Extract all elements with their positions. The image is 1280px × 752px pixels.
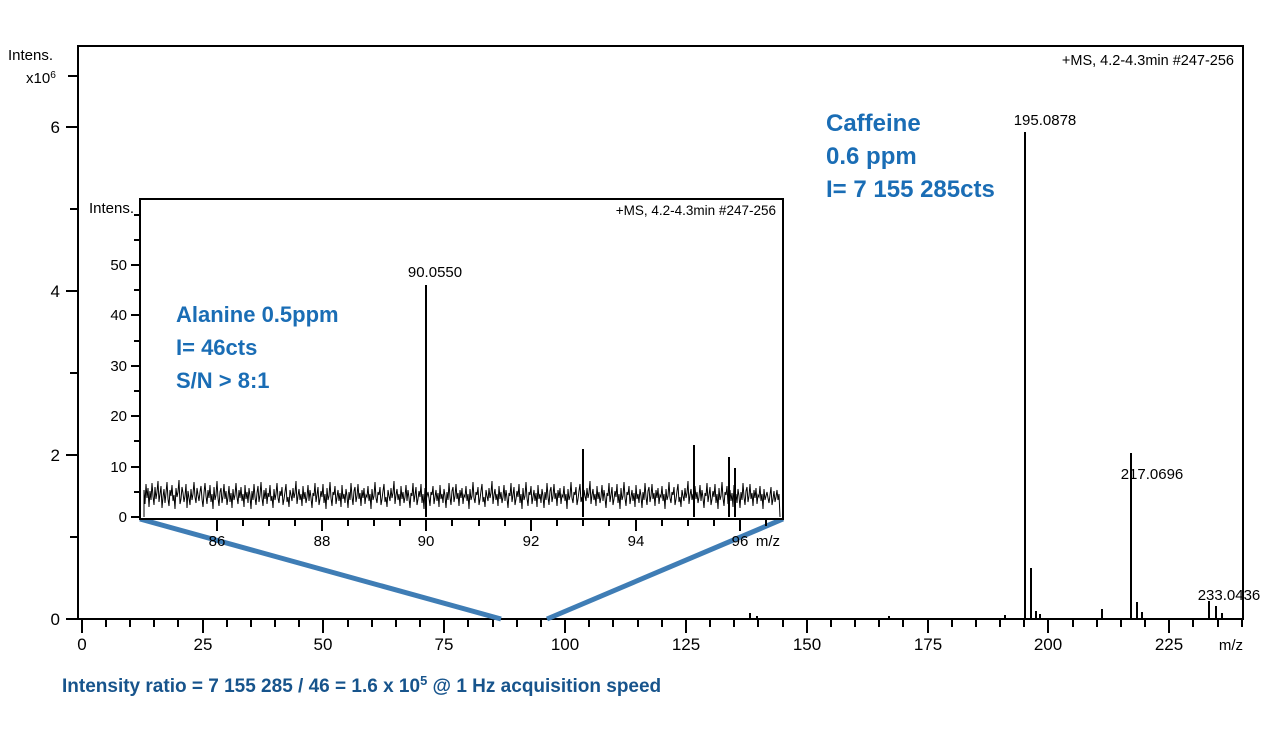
main-x-tick-150: 150 — [793, 635, 821, 654]
inset-y-tick-10: 10 — [110, 459, 127, 476]
inset-x-tick-88: 88 — [314, 533, 331, 550]
main-x-tick-25: 25 — [194, 635, 213, 654]
main-peak-label-233: 233.0436 — [1198, 587, 1261, 604]
caption-exponent: 5 — [420, 673, 427, 688]
main-x-tick-50: 50 — [314, 635, 333, 654]
alanine-annotation-line1: Alanine 0.5ppm — [176, 302, 339, 327]
main-x-axis-title: m/z — [1219, 637, 1243, 654]
main-x-tick-0: 0 — [77, 635, 86, 654]
main-x-tick-175: 175 — [914, 635, 942, 654]
main-y-axis-title-line1: Intens. — [8, 47, 53, 64]
inset-x-tick-92: 92 — [523, 533, 540, 550]
caption-part1: Intensity ratio = 7 155 285 / 46 = 1.6 x… — [62, 676, 420, 697]
main-x-tick-100: 100 — [551, 635, 579, 654]
inset-y-axis-title: Intens. — [89, 200, 134, 217]
main-x-tick-225: 225 — [1155, 635, 1183, 654]
main-y-axis-title-base: x10 — [26, 70, 50, 87]
main-x-axis: 0 25 50 75 100 125 150 175 200 225 m/z — [77, 619, 1243, 654]
caffeine-annotation-line3: I= 7 155 285cts — [826, 176, 995, 203]
main-y-tick-2: 2 — [51, 446, 60, 465]
alanine-annotation-line2: I= 46cts — [176, 335, 257, 360]
inset-x-tick-90: 90 — [418, 533, 435, 550]
main-y-axis-title: Intens. x106 — [8, 47, 56, 87]
inset-y-tick-20: 20 — [110, 408, 127, 425]
mass-spectrum-figure: 0 2 4 6 Intens. x106 — [0, 0, 1280, 752]
figure-root: 0 2 4 6 Intens. x106 — [0, 0, 1280, 752]
inset-x-tick-94: 94 — [628, 533, 645, 550]
main-peak-label-217: 217.0696 — [1121, 466, 1184, 483]
main-y-axis: 0 2 4 6 — [51, 76, 78, 629]
figure-caption: Intensity ratio = 7 155 285 / 46 = 1.6 x… — [62, 673, 661, 698]
inset-plot-header: +MS, 4.2-4.3min #247-256 — [616, 203, 776, 218]
main-y-tick-0: 0 — [51, 610, 60, 629]
inset-x-axis-title: m/z — [756, 533, 780, 550]
inset-x-tick-96: 96 — [732, 533, 749, 550]
inset-peak-label-90: 90.0550 — [408, 264, 462, 281]
main-x-tick-75: 75 — [435, 635, 454, 654]
caffeine-annotation-line1: Caffeine — [826, 110, 921, 137]
inset-x-tick-86: 86 — [209, 533, 226, 550]
main-peak-label-195: 195.0878 — [1014, 112, 1077, 129]
inset-y-tick-40: 40 — [110, 307, 127, 324]
alanine-annotation-line3: S/N > 8:1 — [176, 368, 270, 393]
inset-y-tick-30: 30 — [110, 358, 127, 375]
caption-part2: @ 1 Hz acquisition speed — [427, 676, 661, 697]
main-y-tick-4: 4 — [51, 282, 60, 301]
main-plot-header: +MS, 4.2-4.3min #247-256 — [1062, 53, 1234, 69]
main-y-axis-title-exponent: 6 — [50, 70, 56, 81]
inset-y-tick-0: 0 — [119, 509, 127, 526]
main-y-axis-title-line2: x106 — [26, 70, 56, 88]
main-x-tick-125: 125 — [672, 635, 700, 654]
caffeine-annotation-line2: 0.6 ppm — [826, 143, 917, 170]
main-x-tick-200: 200 — [1034, 635, 1062, 654]
main-y-tick-6: 6 — [51, 118, 60, 137]
inset-y-tick-50: 50 — [110, 257, 127, 274]
